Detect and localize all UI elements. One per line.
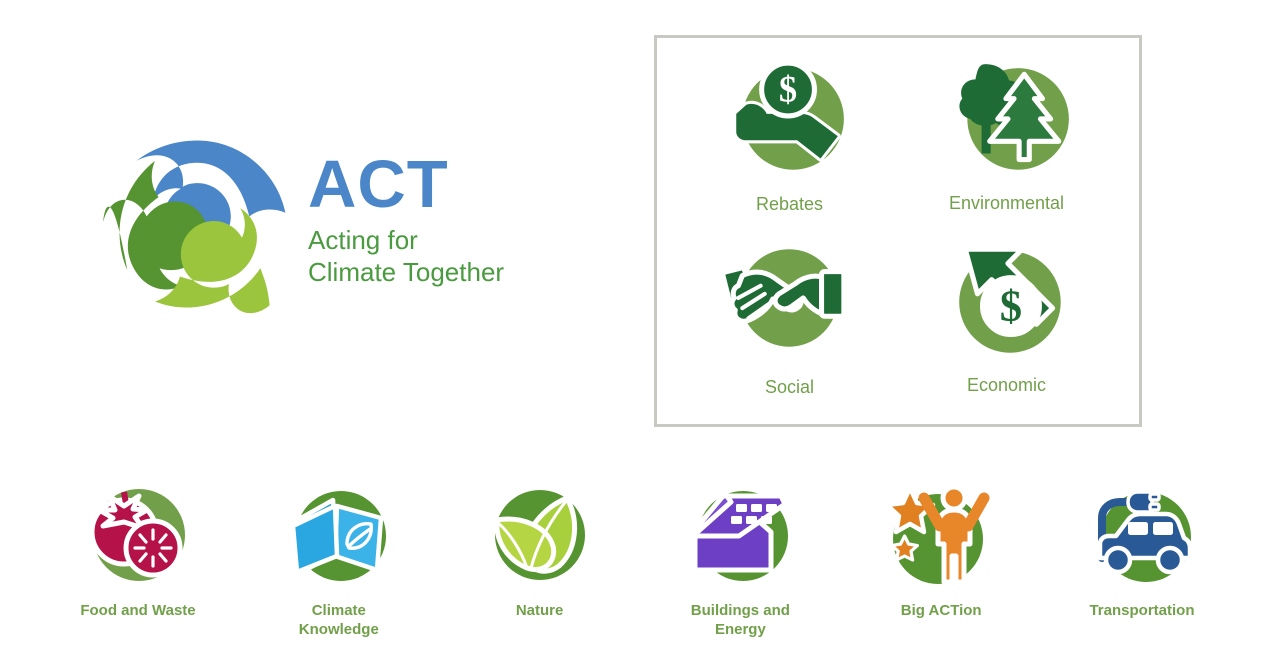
tomato-icon [81, 482, 191, 592]
benefit-social[interactable]: Social [681, 235, 898, 414]
theme-buildings-and-energy[interactable]: Buildings and Energy [640, 482, 840, 640]
benefit-label: Social [765, 377, 814, 398]
benefit-label: Rebates [756, 194, 823, 215]
theme-label: Nature [516, 602, 564, 621]
theme-big-action[interactable]: Big ACTion [841, 482, 1041, 621]
theme-label: Big ACTion [901, 602, 982, 621]
book-leaf-icon [285, 482, 395, 592]
solar-house-icon [685, 482, 795, 592]
theme-label: Transportation [1089, 602, 1194, 621]
theme-food-and-waste[interactable]: Food and Waste [38, 482, 238, 621]
social-handshake-icon [720, 235, 852, 367]
theme-label: Food and Waste [80, 602, 195, 621]
benefit-economic[interactable]: $ Economic [898, 235, 1115, 414]
theme-label-line-1: Buildings and [691, 602, 790, 619]
brand-wordmark: ACT Acting for Climate Together [308, 153, 548, 288]
benefit-label: Economic [967, 375, 1046, 396]
leaves-icon [485, 482, 595, 592]
benefit-rebates[interactable]: $ Rebates [681, 56, 898, 235]
rebates-icon: $ [720, 56, 852, 188]
tagline-line-2: Climate Together [308, 257, 548, 288]
theme-label-line-1: Climate [312, 602, 366, 619]
theme-label-line-2: Energy [715, 621, 766, 638]
act-acronym: ACT [308, 153, 548, 217]
poster-canvas: ACT Acting for Climate Together [0, 0, 1280, 672]
act-tagline: Acting for Climate Together [308, 225, 548, 287]
act-logo-icon [105, 135, 290, 320]
theme-transportation[interactable]: Transportation [1042, 482, 1242, 621]
svg-text:$: $ [999, 280, 1021, 330]
act-brand-lockup: ACT Acting for Climate Together [105, 135, 545, 325]
benefits-panel: $ Rebates [654, 35, 1142, 427]
theme-label-line-2: Knowledge [299, 621, 379, 638]
benefit-label: Environmental [949, 193, 1064, 214]
environmental-icon [945, 56, 1077, 188]
economic-icon: $ [947, 235, 1079, 367]
svg-text:$: $ [778, 69, 796, 110]
theme-label: Climate Knowledge [299, 602, 379, 640]
tagline-line-1: Acting for [308, 225, 548, 256]
theme-row: Food and Waste [38, 482, 1242, 652]
theme-label: Buildings and Energy [691, 602, 790, 640]
theme-climate-knowledge[interactable]: Climate Knowledge [239, 482, 439, 640]
benefit-environmental[interactable]: Environmental [898, 56, 1115, 235]
benefits-grid: $ Rebates [657, 38, 1139, 424]
electric-car-icon [1088, 482, 1198, 592]
celebrating-person-stars-icon [886, 482, 996, 592]
theme-nature[interactable]: Nature [440, 482, 640, 621]
